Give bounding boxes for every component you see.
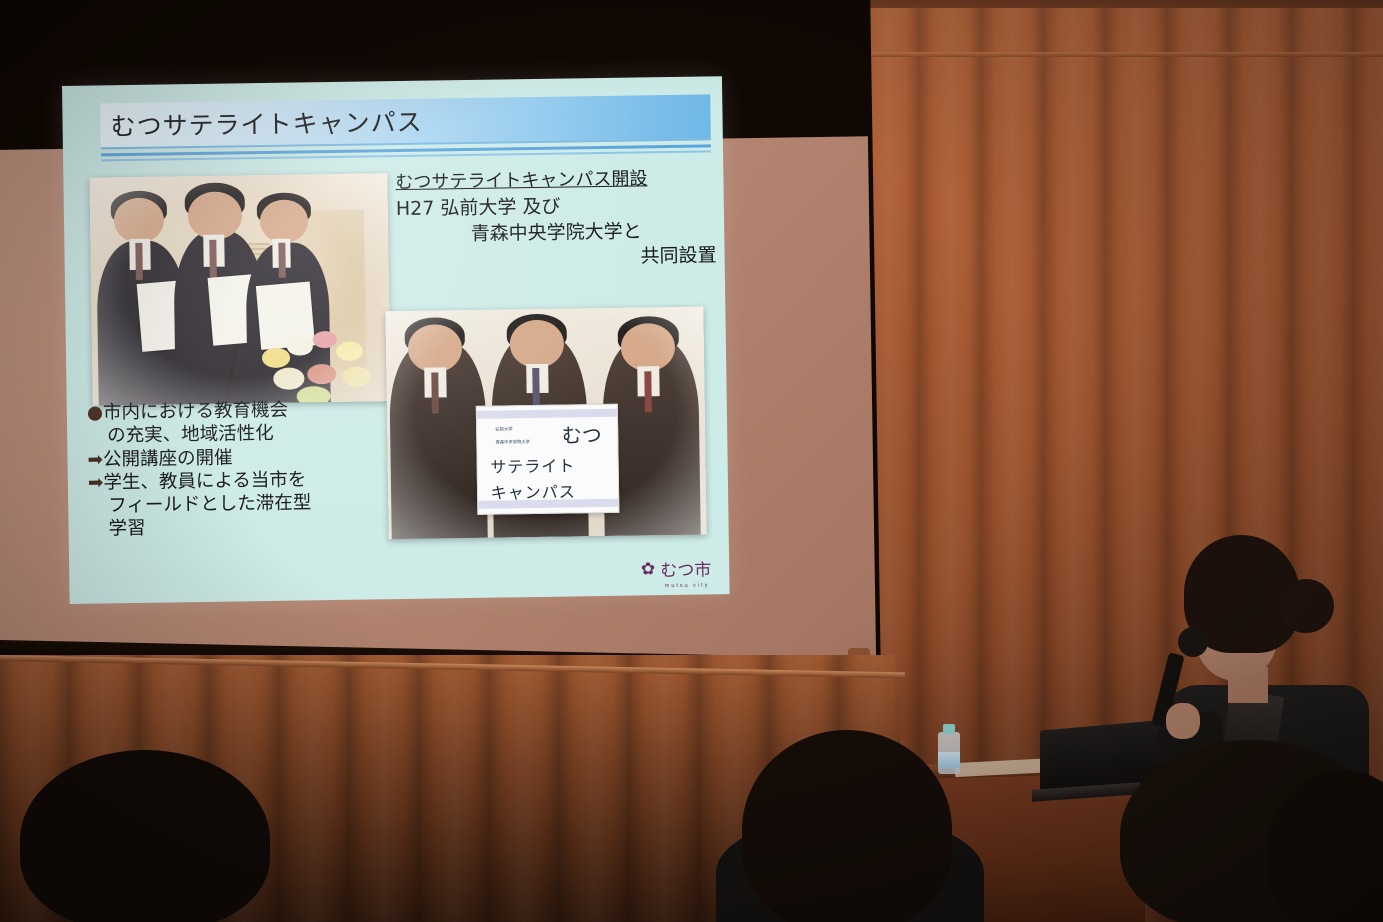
headline-line-4: 共同設置 — [396, 243, 716, 273]
bullet-marker: ➡ — [87, 449, 103, 470]
bullet-marker: ➡ — [88, 472, 104, 493]
bullet-marker: ● — [87, 402, 103, 423]
water-bottle — [938, 722, 960, 774]
mutsu-city-logo: ✿ むつ市 mutsu city — [641, 555, 712, 581]
curtain-rail — [858, 52, 1383, 57]
hair-bun — [1278, 579, 1334, 633]
photo-campus-sign: 弘前大学 青森中央学院大学 むつ サテライト キャンパス — [385, 307, 706, 540]
photo-signing-ceremony — [89, 173, 390, 405]
slide-title: むつサテライトキャンパス — [110, 103, 423, 144]
bullet-text: フィールドとした滞在型 — [108, 493, 311, 517]
logo-english-text: mutsu city — [665, 582, 710, 589]
bullet-text: 学生、教員による当市を — [103, 469, 306, 493]
logo-japanese-text: むつ市 — [660, 555, 711, 581]
bullet-text: 公開講座の開催 — [103, 447, 233, 470]
bullet-text: 市内における教育機会 — [103, 400, 288, 424]
bullet-text: の充実、地域活性化 — [107, 423, 274, 446]
audience-head-left — [20, 750, 270, 922]
bullet-item: 学習 — [88, 513, 408, 541]
bullet-text: 学習 — [108, 518, 145, 540]
presentation-room-photo: むつサテライトキャンパス — [0, 0, 1383, 922]
headline-line-1: むつサテライトキャンパス開設 — [395, 166, 715, 195]
slide-headline: むつサテライトキャンパス開設 H27 弘前大学 及び 青森中央学院大学と 共同設… — [395, 166, 716, 273]
audience-head-center — [742, 730, 952, 922]
microphone-head — [1178, 627, 1208, 657]
presentation-slide: むつサテライトキャンパス — [62, 76, 730, 604]
flower-mark-icon: ✿ — [641, 560, 656, 577]
slide-bullet-list: ●市内における教育機会 の充実、地域活性化 ➡公開講座の開催 ➡学生、教員による… — [87, 397, 409, 542]
